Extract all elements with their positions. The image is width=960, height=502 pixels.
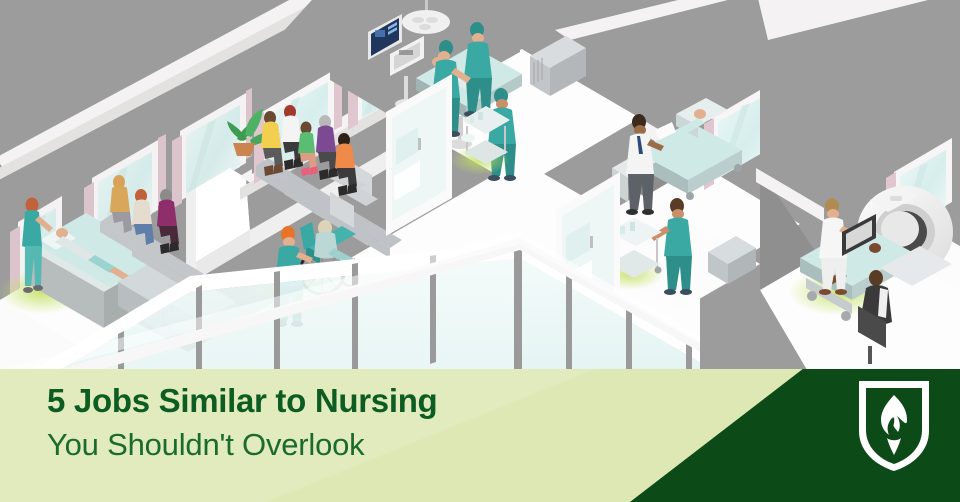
page-subtitle: You Shouldn't Overlook xyxy=(47,426,667,463)
imaging-suite xyxy=(755,0,960,392)
infographic-banner-image: 5 Jobs Similar to Nursing You Shouldn't … xyxy=(0,0,960,502)
banner-text-block: 5 Jobs Similar to Nursing You Shouldn't … xyxy=(47,383,667,463)
rasmussen-shield-flame-logo[interactable] xyxy=(855,377,933,473)
page-title: 5 Jobs Similar to Nursing xyxy=(47,383,667,420)
